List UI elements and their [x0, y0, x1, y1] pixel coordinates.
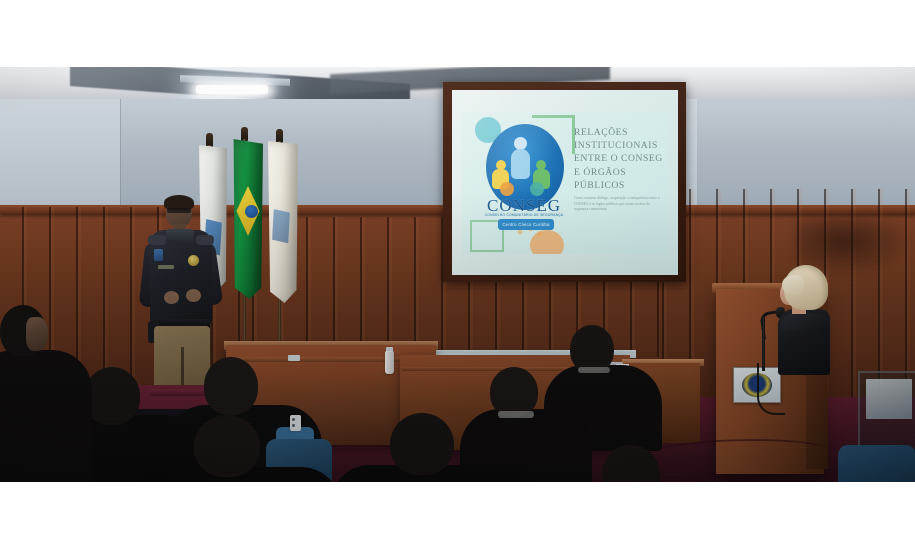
audience-member-1: [0, 305, 86, 482]
conseg-logo: CONSEG CONSELHO COMUNITÁRIO DE SEGURANÇA…: [480, 124, 568, 236]
side-monitor-screen: [866, 379, 912, 419]
logo-banner-label: Centro Cívico Curitiba: [502, 222, 549, 227]
audience-member-4-head: [194, 415, 260, 477]
logo-subtitle: CONSELHO COMUNITÁRIO DE SEGURANÇA: [480, 213, 568, 217]
slide-body-text: Como construir diálogo, cooperação e tra…: [574, 196, 662, 213]
audience-member-5-head: [390, 413, 454, 475]
audience-member-3-head: [204, 357, 258, 415]
audience-member-6: [578, 445, 728, 482]
logo-figure-center-body-icon: [511, 149, 530, 179]
audience-member-8-head: [570, 325, 614, 373]
brazil-flag-globe-icon: [245, 205, 258, 218]
logo-figure-lower-right-icon: [530, 182, 544, 196]
audience-member-1-face: [26, 317, 48, 351]
presentation-slide: CONSEG CONSELHO COMUNITÁRIO DE SEGURANÇA…: [462, 112, 668, 254]
officer-right-epaulette: [196, 235, 214, 245]
officer-shoulder-patch-icon: [154, 249, 163, 261]
speaker-hair-fringe: [782, 275, 804, 295]
speaker-shoulders: [780, 313, 828, 331]
ceiling-light-icon: [196, 85, 268, 94]
officer-name-tag: [158, 265, 174, 269]
audience-member-6-head: [602, 445, 660, 482]
logo-banner: Centro Cívico Curitiba: [498, 219, 554, 230]
logo-figure-lower-left-icon: [500, 182, 514, 196]
water-bottle: [385, 351, 394, 374]
officer-right-hand: [186, 289, 201, 302]
audience-member-1-shoulders: [0, 350, 92, 482]
officer-left-hand: [164, 291, 179, 304]
podium-speaker: [778, 265, 836, 375]
auditorium-photo: CONSEG CONSELHO COMUNITÁRIO DE SEGURANÇA…: [0, 67, 915, 482]
audience-member-4: [146, 415, 321, 482]
screenshot-root: CONSEG CONSELHO COMUNITÁRIO DE SEGURANÇA…: [0, 0, 915, 555]
auditorium-seat-right: [838, 445, 915, 482]
institutional-flag-emblem-icon: [272, 209, 290, 245]
officer-left-epaulette: [148, 235, 166, 245]
wall-panel-left: [0, 99, 121, 217]
projection-screen: CONSEG CONSELHO COMUNITÁRIO DE SEGURANÇA…: [452, 90, 678, 275]
letterbox-bar-bottom: [0, 482, 915, 555]
letterbox-bar-top: [0, 0, 915, 67]
slide-title: RELAÇÕES INSTITUCIONAIS ENTRE O CONSEG E…: [574, 126, 666, 192]
audience-member-8-collar: [578, 367, 610, 373]
audience-member-5: [352, 413, 522, 482]
audience-member-2-head: [84, 367, 140, 425]
officer-badge-icon: [188, 255, 199, 266]
officer-collar: [166, 229, 194, 243]
officer-glasses-icon: [167, 208, 191, 213]
audience-member-7-head: [490, 367, 538, 417]
